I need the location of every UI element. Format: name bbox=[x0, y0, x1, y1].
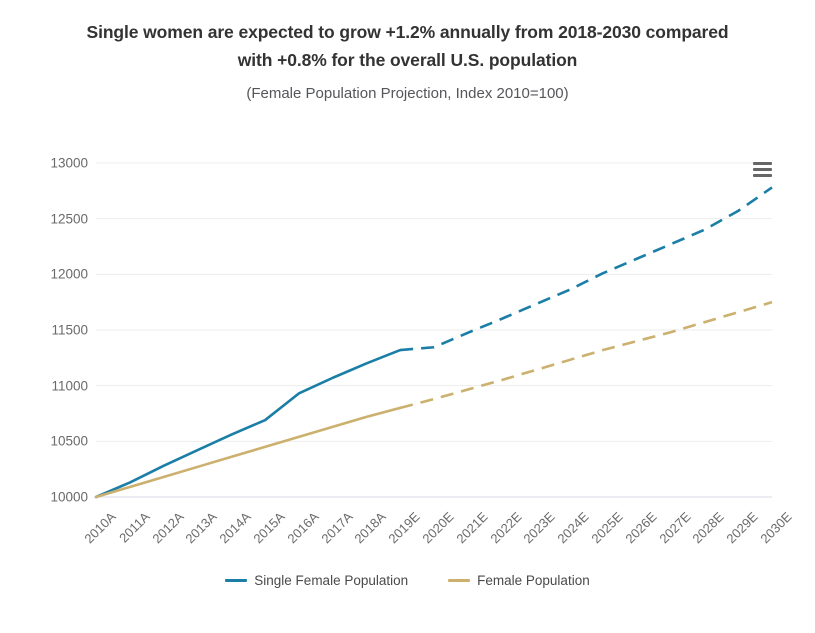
hamburger-bar-1 bbox=[753, 162, 772, 165]
legend-item[interactable]: Female Population bbox=[448, 573, 590, 588]
legend-item[interactable]: Single Female Population bbox=[225, 573, 408, 588]
legend-label: Female Population bbox=[477, 573, 590, 588]
hamburger-icon[interactable] bbox=[751, 158, 773, 180]
chart-container: Single women are expected to grow +1.2% … bbox=[0, 0, 815, 615]
hamburger-bar-3 bbox=[753, 174, 772, 177]
hamburger-bar-2 bbox=[753, 168, 772, 171]
legend-label: Single Female Population bbox=[254, 573, 408, 588]
chart-legend: Single Female PopulationFemale Populatio… bbox=[0, 573, 815, 588]
legend-swatch-icon bbox=[448, 579, 470, 583]
legend-swatch-icon bbox=[225, 579, 247, 583]
x-axis: 2010A2011A2012A2013A2014A2015A2016A2017A… bbox=[0, 0, 815, 615]
